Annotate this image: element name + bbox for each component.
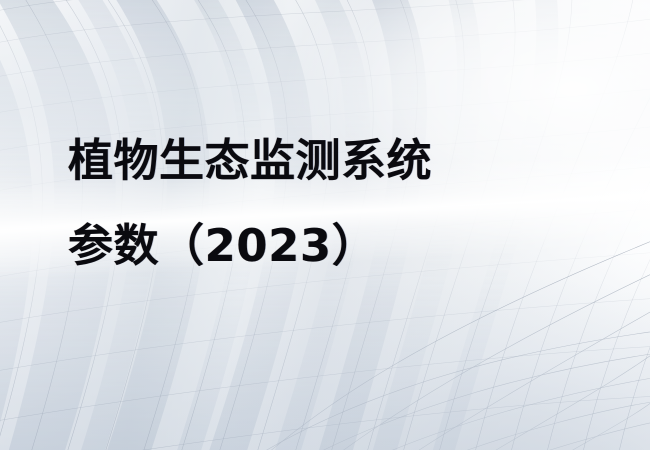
slide-title-line-2: 参数（2023） (68, 203, 588, 288)
slide-title-block: 植物生态监测系统 参数（2023） (68, 118, 588, 288)
slide-title-line-1: 植物生态监测系统 (68, 118, 588, 203)
slide-canvas: 植物生态监测系统 参数（2023） (0, 0, 650, 450)
